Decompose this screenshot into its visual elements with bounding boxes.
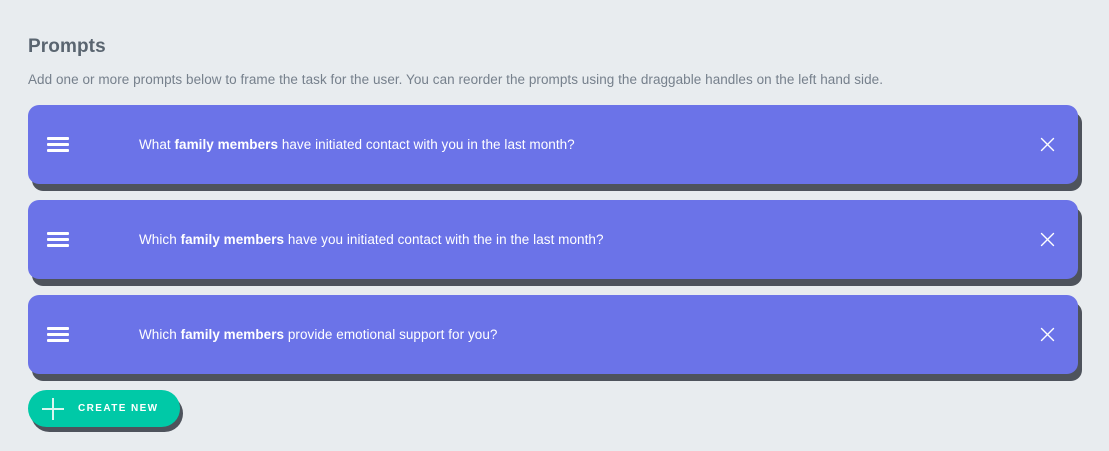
prompt-text-before: What [139,137,175,152]
prompt-card[interactable]: Which family members provide emotional s… [28,295,1078,374]
section-description: Add one or more prompts below to frame t… [28,71,883,89]
prompt-text-before: Which [139,232,181,247]
prompt-card[interactable]: What family members have initiated conta… [28,105,1078,184]
prompt-text-after: have initiated contact with you in the l… [278,137,575,152]
prompt-text: Which family members provide emotional s… [88,325,1016,344]
prompt-text: What family members have initiated conta… [88,135,1016,154]
prompts-panel: Prompts Add one or more prompts below to… [0,0,1109,451]
prompt-text-highlight: family members [181,327,285,342]
prompt-list: What family members have initiated conta… [28,105,1078,390]
plus-icon [42,398,64,420]
hamburger-icon [47,232,69,247]
drag-handle[interactable] [28,105,88,184]
remove-prompt-button[interactable] [1016,105,1078,184]
prompt-text-after: have you initiated contact with the in t… [284,232,603,247]
prompt-text-highlight: family members [175,137,279,152]
hamburger-icon [47,137,69,152]
drag-handle[interactable] [28,200,88,279]
close-icon [1040,232,1055,247]
page-title: Prompts [28,35,106,59]
prompt-card[interactable]: Which family members have you initiated … [28,200,1078,279]
prompt-text-before: Which [139,327,181,342]
prompt-text: Which family members have you initiated … [88,230,1016,249]
close-icon [1040,137,1055,152]
prompt-text-after: provide emotional support for you? [284,327,497,342]
close-icon [1040,327,1055,342]
drag-handle[interactable] [28,295,88,374]
remove-prompt-button[interactable] [1016,295,1078,374]
remove-prompt-button[interactable] [1016,200,1078,279]
create-new-button-label: Create New [78,403,158,415]
hamburger-icon [47,327,69,342]
prompt-text-highlight: family members [181,232,285,247]
create-new-button[interactable]: Create New [28,390,180,427]
